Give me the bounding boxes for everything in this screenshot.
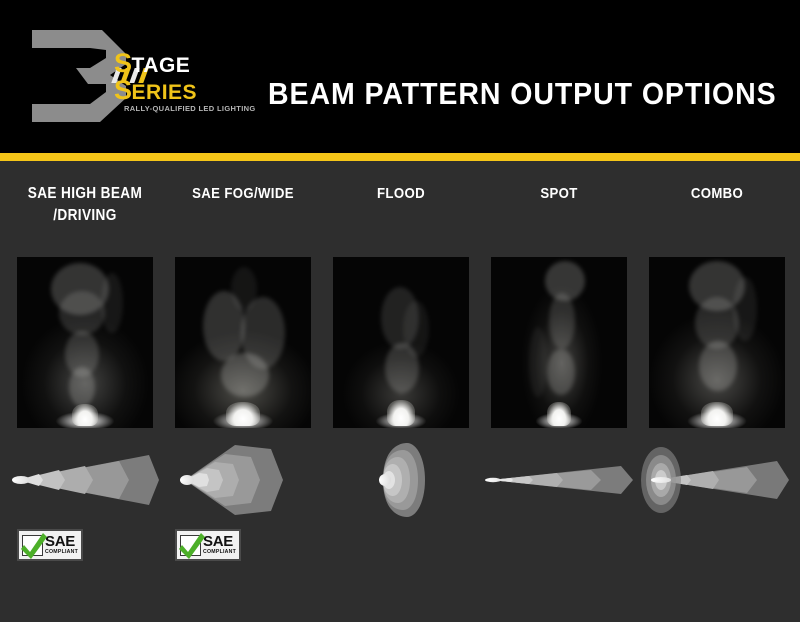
beam-option-label: SAE FOG/WIDE — [176, 183, 310, 205]
poster-header: STAGE SERIES RALLY-QUALIFIED LED LIGHTIN… — [0, 0, 800, 153]
diode-dynamics-stage-series-logo: STAGE SERIES RALLY-QUALIFIED LED LIGHTIN… — [28, 28, 238, 128]
beam-option-column[interactable]: SAE FOG/WIDE — [167, 161, 319, 622]
sae-compliant-badge: SAE COMPLIANT — [175, 529, 241, 561]
logo-series-rest: ERIES — [132, 81, 198, 104]
beam-diagram-fog-wide — [167, 441, 319, 519]
beam-option-column[interactable]: COMBO — [641, 161, 793, 622]
logo-tagline: RALLY-QUALIFIED LED LIGHTING — [124, 104, 256, 113]
logo-wordmark: STAGE SERIES — [114, 48, 244, 105]
check-icon — [22, 535, 43, 556]
beam-photo-combo — [649, 257, 785, 428]
beam-photo-sae-fog-wide — [175, 257, 311, 428]
page-title: BEAM PATTERN OUTPUT OPTIONS — [268, 76, 777, 112]
logo-word-series: SERIES — [114, 75, 244, 105]
beam-photo-spot — [491, 257, 627, 428]
beam-diagram-driving — [9, 441, 161, 519]
logo-series-initial: S — [114, 75, 132, 105]
badge-title: SAE — [203, 534, 236, 549]
beam-pattern-poster: STAGE SERIES RALLY-QUALIFIED LED LIGHTIN… — [0, 0, 800, 622]
badge-subtitle: COMPLIANT — [203, 550, 236, 555]
check-icon — [180, 535, 201, 556]
beam-photo-sae-high-beam-driving — [17, 257, 153, 428]
beam-option-label: COMBO — [650, 183, 784, 205]
sae-compliant-badge: SAE COMPLIANT — [17, 529, 83, 561]
beam-options-grid: SAE HIGH BEAM /DRIVING — [0, 161, 800, 622]
logo-stage-initial: S — [114, 48, 132, 78]
beam-photo-flood — [333, 257, 469, 428]
badge-subtitle: COMPLIANT — [45, 550, 78, 555]
beam-diagram-spot — [483, 441, 635, 519]
beam-option-label: SPOT — [492, 183, 626, 205]
badge-title: SAE — [45, 534, 78, 549]
beam-diagram-combo — [641, 441, 793, 519]
logo-stage-rest: TAGE — [132, 54, 191, 77]
beam-option-column[interactable]: FLOOD — [325, 161, 477, 622]
beam-option-label: FLOOD — [334, 183, 468, 205]
logo-word-stage: STAGE — [114, 48, 244, 78]
beam-diagram-flood — [325, 441, 477, 519]
beam-option-column[interactable]: SAE HIGH BEAM /DRIVING — [9, 161, 161, 622]
beam-option-column[interactable]: SPOT — [483, 161, 635, 622]
header-divider-bar — [0, 153, 800, 161]
beam-option-label: SAE HIGH BEAM /DRIVING — [18, 183, 152, 227]
